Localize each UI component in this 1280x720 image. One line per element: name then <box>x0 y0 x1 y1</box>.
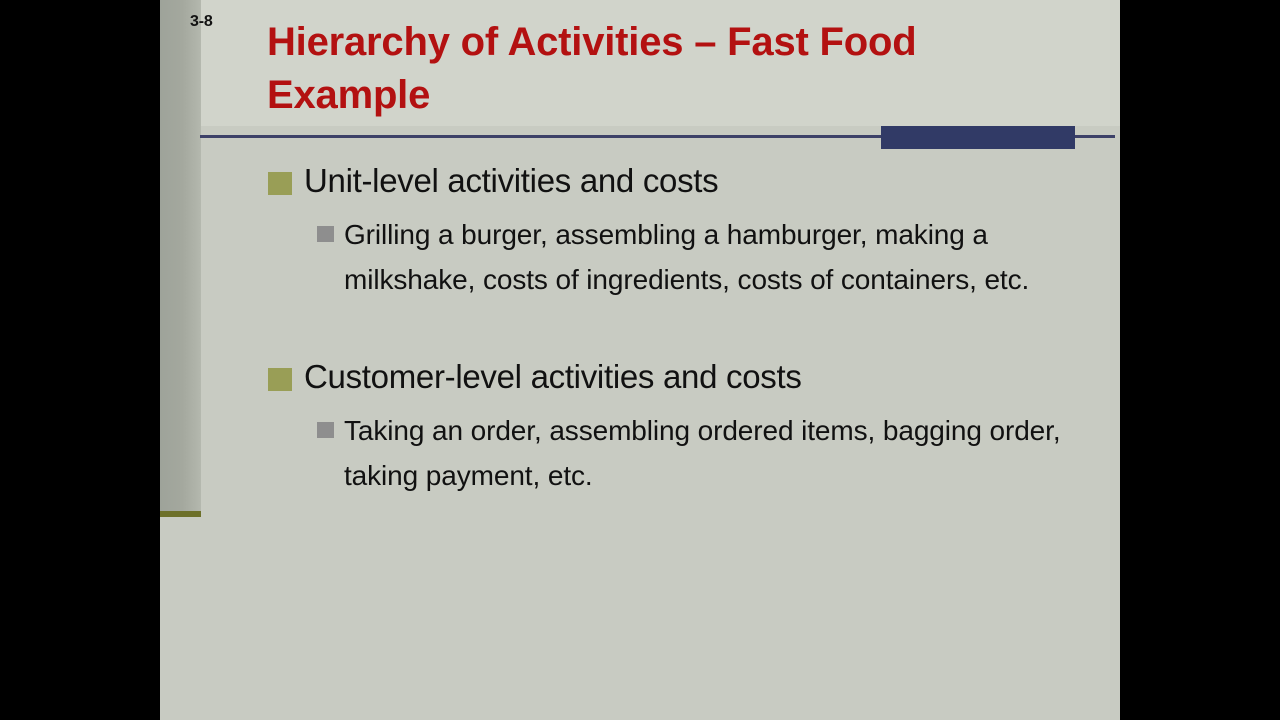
square-bullet-icon <box>268 172 292 195</box>
bullet-level2-label: Grilling a burger, assembling a hamburge… <box>344 212 1080 302</box>
bullet-item-level2: Taking an order, assembling ordered item… <box>160 408 1120 498</box>
bullet-item-level1: Unit-level activities and costs <box>160 158 1120 204</box>
page-title: Hierarchy of Activities – Fast Food Exam… <box>267 16 1087 122</box>
square-bullet-icon <box>317 226 334 242</box>
accent-block <box>881 126 1075 149</box>
spacer <box>160 302 1120 354</box>
square-bullet-icon <box>317 422 334 438</box>
bullet-item-level2: Grilling a burger, assembling a hamburge… <box>160 212 1120 302</box>
slide-canvas: 3-8 Hierarchy of Activities – Fast Food … <box>160 0 1120 720</box>
slide-body: Unit-level activities and costs Grilling… <box>160 158 1120 498</box>
bullet-level1-label: Customer-level activities and costs <box>304 354 1120 400</box>
bullet-item-level1: Customer-level activities and costs <box>160 354 1120 400</box>
square-bullet-icon <box>268 368 292 391</box>
left-bar-olive-cap <box>160 511 201 517</box>
bullet-level1-label: Unit-level activities and costs <box>304 158 1120 204</box>
spacer <box>160 400 1120 408</box>
bullet-level2-label: Taking an order, assembling ordered item… <box>344 408 1080 498</box>
slide-number: 3-8 <box>190 13 213 31</box>
slide-viewport: 3-8 Hierarchy of Activities – Fast Food … <box>0 0 1280 720</box>
spacer <box>160 204 1120 212</box>
